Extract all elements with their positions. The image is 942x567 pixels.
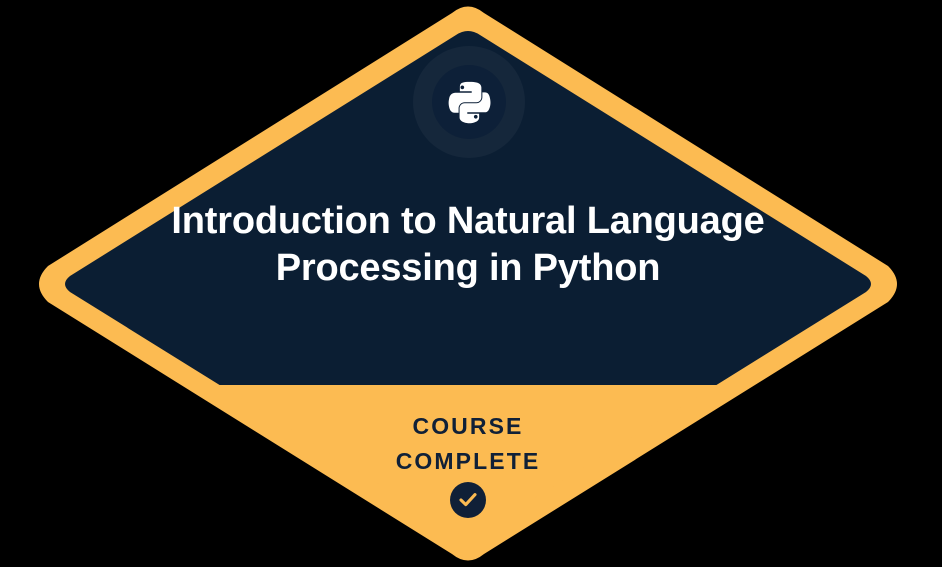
completion-status: COURSE COMPLETE xyxy=(271,409,665,479)
status-line-complete: COMPLETE xyxy=(271,444,665,479)
status-line-course: COURSE xyxy=(271,409,665,444)
python-logo-icon xyxy=(446,79,492,125)
completion-check-badge xyxy=(450,482,486,518)
course-title: Introduction to Natural Language Process… xyxy=(171,198,765,292)
badge-canvas: Introduction to Natural Language Process… xyxy=(0,0,942,567)
check-mark-icon xyxy=(459,492,477,508)
python-emblem xyxy=(413,46,525,158)
